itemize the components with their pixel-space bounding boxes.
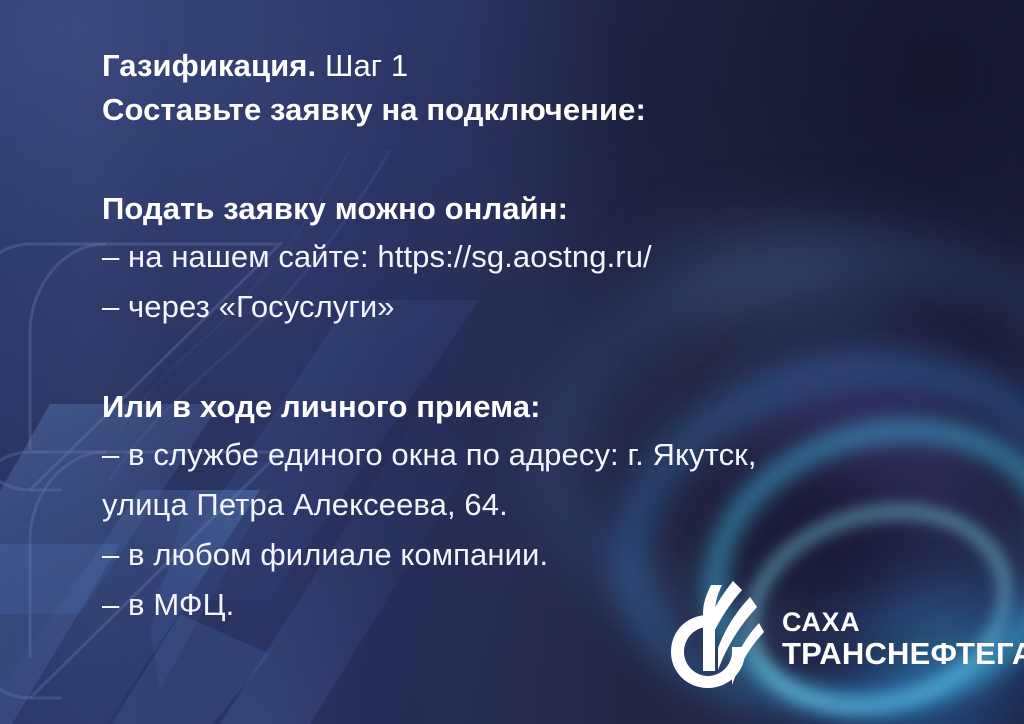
section-online-item-gosuslugi: – через «Госуслуги»: [102, 282, 982, 332]
section-in-person-heading: Или в ходе личного приема:: [102, 384, 982, 430]
gazification-step1-slide: Газификация. Шаг 1 Составьте заявку на п…: [0, 0, 1024, 724]
company-logo: САХА ТРАНСНЕФТЕГАЗ: [662, 575, 1014, 695]
section-in-person-item-address: улица Петра Алексеева, 64.: [102, 480, 982, 530]
section-online: Подать заявку можно онлайн: – на нашем с…: [102, 186, 982, 332]
page-title: Газификация. Шаг 1: [102, 44, 982, 88]
slide-content: Газификация. Шаг 1 Составьте заявку на п…: [102, 44, 982, 630]
section-in-person-item-one-window: – в службе единого окна по адресу: г. Як…: [102, 430, 982, 480]
page-subtitle: Составьте заявку на подключение:: [102, 88, 982, 132]
title-topic: Газификация.: [102, 48, 316, 83]
section-in-person-item-branch: – в любом филиале компании.: [102, 530, 982, 580]
spacer-between-sections: [102, 332, 982, 384]
logo-wordmark: САХА ТРАНСНЕФТЕГАЗ: [782, 600, 1024, 670]
title-step: Шаг 1: [325, 48, 408, 83]
spacer-after-heading: [102, 132, 982, 186]
section-online-heading: Подать заявку можно онлайн:: [102, 186, 982, 232]
logo-word-line1: САХА: [782, 608, 1024, 637]
logo-word-line2: ТРАНСНЕФТЕГАЗ: [782, 637, 1024, 670]
section-online-item-site[interactable]: – на нашем сайте: https://sg.aostng.ru/: [102, 232, 982, 282]
gazprom-flame-emblem-icon: [662, 579, 766, 691]
